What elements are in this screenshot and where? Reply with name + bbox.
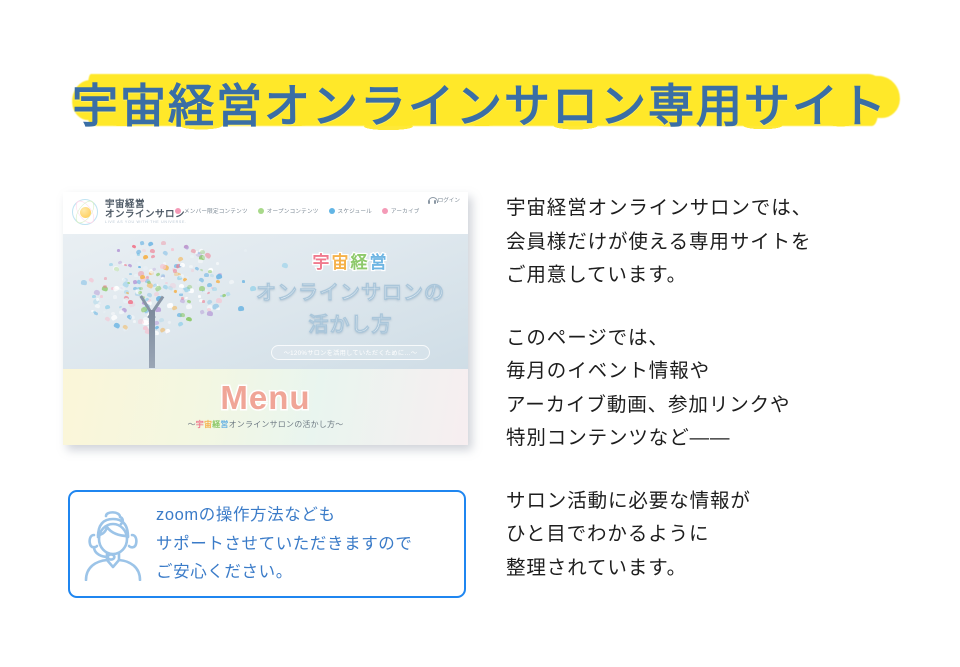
hero-line-2: オンラインサロンの xyxy=(243,276,458,305)
nav-label: アーカイブ xyxy=(391,207,420,215)
menu-subheading: 〜宇宙経営オンラインサロンの活かし方〜 xyxy=(63,419,468,430)
hero-line-3: 活かし方 xyxy=(243,308,458,337)
hero-kanji-2: 宙 xyxy=(332,253,351,272)
nav-dot-icon xyxy=(382,208,388,214)
nav-dot-icon xyxy=(175,208,181,214)
paragraph-2-line-2: 毎月のイベント情報や xyxy=(506,355,936,389)
support-line-2: サポートさせていただきますので xyxy=(156,530,413,558)
paragraph-2-line-3: アーカイブ動画、参加リンクや xyxy=(506,389,936,423)
paragraph-1-line-2: 会員様だけが使える専用サイトを xyxy=(506,226,936,260)
hero-kanji-3: 経 xyxy=(351,253,370,272)
hero-text-block: 宇宙経営 オンラインサロンの 活かし方 〜120%サロンを活用していただくために… xyxy=(243,248,458,360)
hero-kanji-line: 宇宙経営 xyxy=(243,248,458,273)
description-paragraph-2: このページでは、 毎月のイベント情報や アーカイブ動画、参加リンクや 特別コンテ… xyxy=(506,322,936,456)
site-preview-nav-links: メンバー限定コンテンツ オープンコンテンツ スケジュール アーカイブ xyxy=(175,207,420,215)
site-logo: 宇宙経営 オンラインサロン LIVE AS YOU WITH THE UNIVE… xyxy=(70,197,187,227)
nav-label: オープンコンテンツ xyxy=(267,207,319,215)
nav-item-open-content[interactable]: オープンコンテンツ xyxy=(258,207,319,215)
hero-subtitle-pill: 〜120%サロンを活用していただくために…〜 xyxy=(271,345,431,360)
paragraph-3-line-1: サロン活動に必要な情報が xyxy=(506,485,936,519)
hero-kanji-4: 営 xyxy=(370,253,389,272)
nav-dot-icon xyxy=(329,208,335,214)
paragraph-3-line-3: 整理されています。 xyxy=(506,552,936,586)
site-preview-card: 宇宙経営 オンラインサロン LIVE AS YOU WITH THE UNIVE… xyxy=(63,192,468,445)
hero-kanji-1: 宇 xyxy=(313,253,332,272)
headset-icon xyxy=(428,197,436,204)
nav-label: メンバー限定コンテンツ xyxy=(184,207,248,215)
nav-dot-icon xyxy=(258,208,264,214)
support-line-1: zoomの操作方法なども xyxy=(156,501,413,529)
nav-item-schedule[interactable]: スケジュール xyxy=(329,207,372,215)
description-paragraph-1: 宇宙経営オンラインサロンでは、 会員様だけが使える専用サイトを ご用意しています… xyxy=(506,192,936,293)
site-preview-hero: 宇宙経営 オンラインサロンの 活かし方 〜120%サロンを活用していただくために… xyxy=(63,234,468,369)
site-preview-menu-band: Menu 〜宇宙経営オンラインサロンの活かし方〜 xyxy=(63,369,468,445)
brand-tagline: LIVE AS YOU WITH THE UNIVERSE. xyxy=(105,221,187,225)
butterfly-tree-illustration xyxy=(67,238,242,368)
menu-heading: Menu xyxy=(63,369,468,417)
page-title-banner: 宇宙経営オンラインサロン専用サイト xyxy=(0,44,960,140)
nav-label: スケジュール xyxy=(338,207,372,215)
paragraph-2-line-4: 特別コンテンツなど—— xyxy=(506,422,936,456)
login-button[interactable]: ログイン xyxy=(428,196,460,204)
support-line-3: ご安心ください。 xyxy=(156,558,413,586)
nav-item-archive[interactable]: アーカイブ xyxy=(382,207,420,215)
paragraph-1-line-3: ご用意しています。 xyxy=(506,259,936,293)
paragraph-2-line-1: このページでは、 xyxy=(506,322,936,356)
page-title: 宇宙経営オンラインサロン専用サイト xyxy=(0,70,960,136)
paragraph-3-line-2: ひと目でわかるように xyxy=(506,518,936,552)
atom-logo-icon xyxy=(70,197,100,227)
nav-item-members-only[interactable]: メンバー限定コンテンツ xyxy=(175,207,248,215)
support-operator-headset-icon xyxy=(70,507,156,581)
paragraph-1-line-1: 宇宙経営オンラインサロンでは、 xyxy=(506,192,936,226)
site-preview-navbar: 宇宙経営 オンラインサロン LIVE AS YOU WITH THE UNIVE… xyxy=(63,192,468,234)
login-label: ログイン xyxy=(438,196,460,204)
support-text: zoomの操作方法なども サポートさせていただきますので ご安心ください。 xyxy=(156,501,413,586)
description-column: 宇宙経営オンラインサロンでは、 会員様だけが使える専用サイトを ご用意しています… xyxy=(506,192,936,585)
description-paragraph-3: サロン活動に必要な情報が ひと目でわかるように 整理されています。 xyxy=(506,485,936,586)
support-callout-box: zoomの操作方法なども サポートさせていただきますので ご安心ください。 xyxy=(68,490,466,598)
